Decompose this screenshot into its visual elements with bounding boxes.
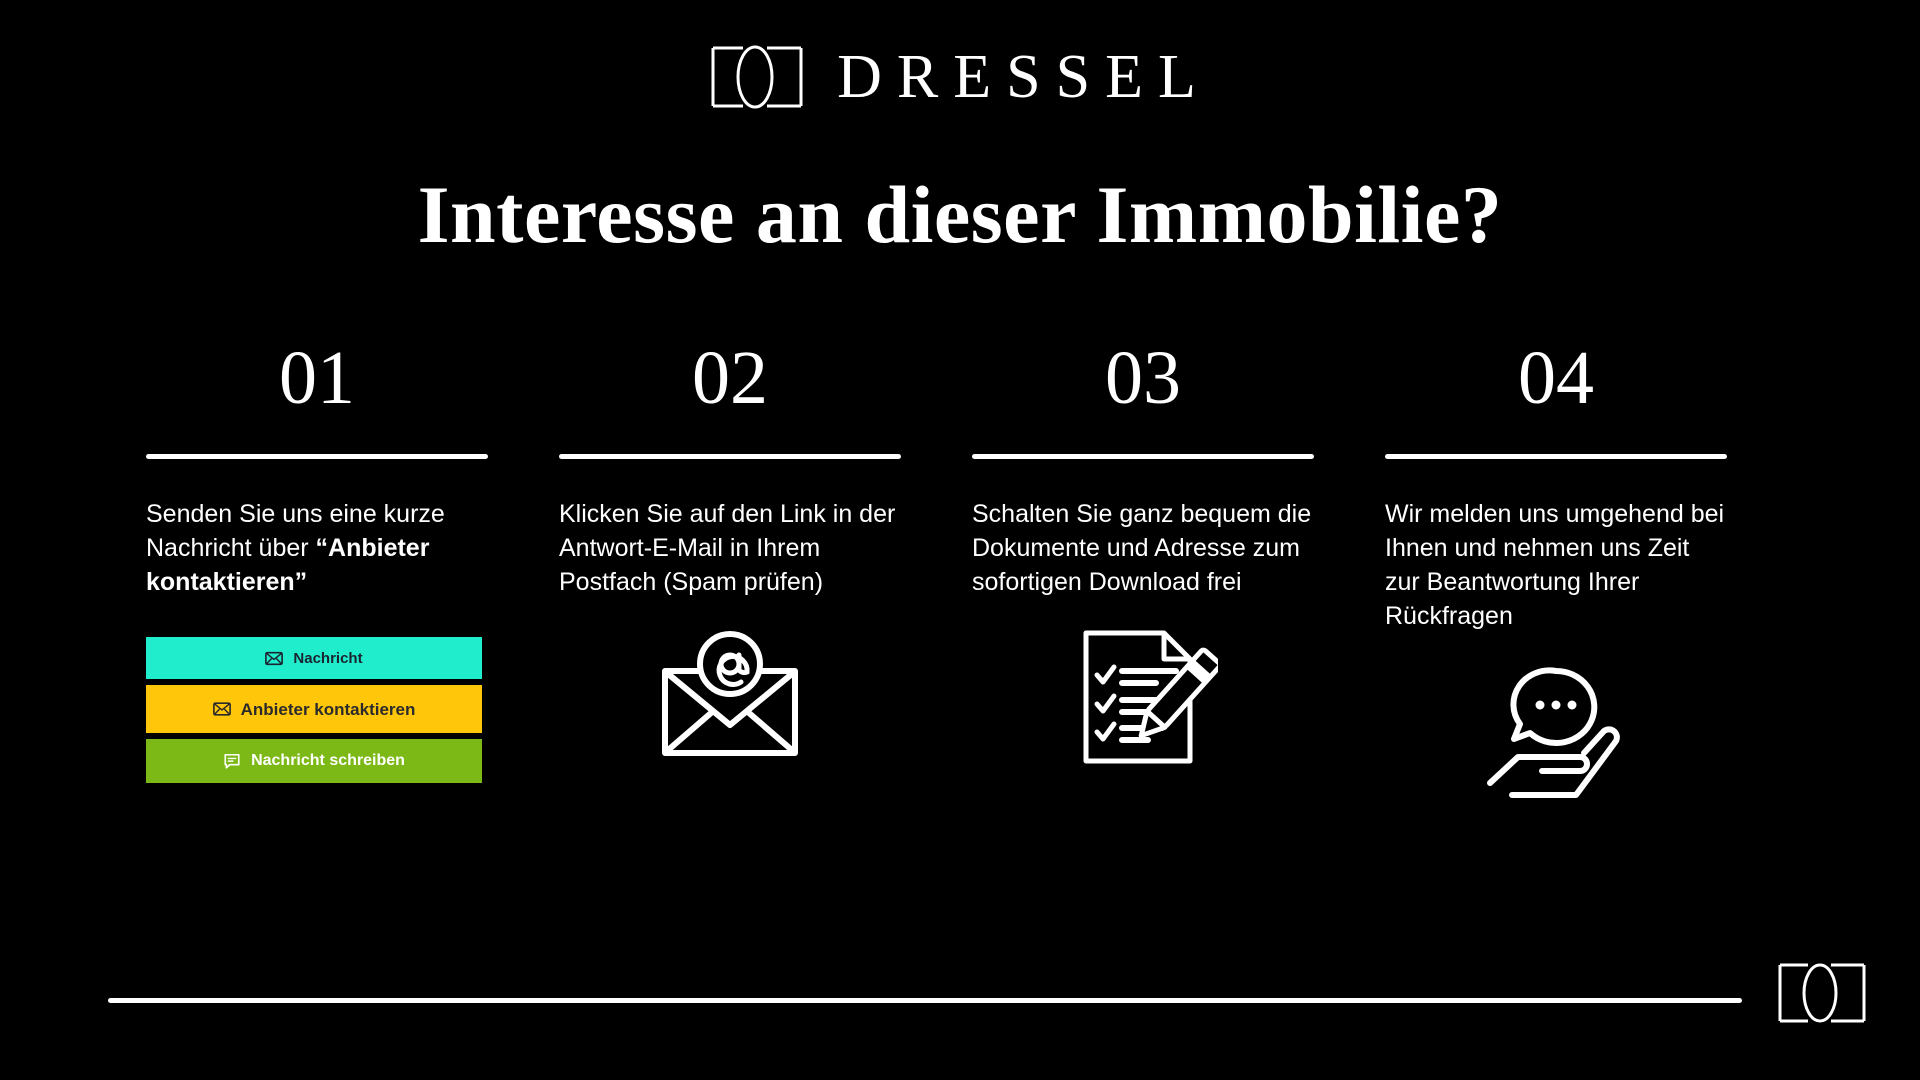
footer-divider	[108, 998, 1742, 1003]
step-number: 03	[972, 340, 1314, 426]
chat-bubble-on-hand-icon	[1476, 661, 1636, 806]
document-checklist-pen-icon	[1068, 627, 1218, 772]
dressel-monogram-icon	[709, 38, 805, 116]
nachricht-button-label: Nachricht	[293, 651, 362, 666]
step-card-04: 04 Wir melden uns umgehend bei Ihnen und…	[1385, 340, 1727, 799]
step-figure	[559, 633, 901, 765]
step-number: 04	[1385, 340, 1727, 426]
step-number: 02	[559, 340, 901, 426]
step-description: Schalten Sie ganz bequem die Dokumente u…	[972, 497, 1314, 599]
anbieter-kontaktieren-button[interactable]: Anbieter kontaktieren	[146, 685, 482, 733]
step-divider	[146, 454, 488, 459]
steps-grid: 01 Senden Sie uns eine kurze Nachricht ü…	[146, 340, 1806, 799]
step-description: Wir melden uns umgehend bei Ihnen und ne…	[1385, 497, 1727, 633]
anbieter-kontaktieren-button-label: Anbieter kontaktieren	[241, 701, 416, 718]
step-figure	[972, 633, 1314, 765]
step-figure	[1385, 667, 1727, 799]
step-card-01: 01 Senden Sie uns eine kurze Nachricht ü…	[146, 340, 488, 799]
email-at-icon	[655, 631, 805, 768]
step-description: Klicken Sie auf den Link in der Antwort-…	[559, 497, 901, 599]
step-card-02: 02 Klicken Sie auf den Link in der Antwo…	[559, 340, 901, 799]
dressel-monogram-icon	[1776, 956, 1868, 1030]
chat-bubble-lines-icon	[223, 752, 241, 770]
envelope-icon	[213, 700, 231, 718]
nachricht-button[interactable]: Nachricht	[146, 637, 482, 679]
brand-wordmark: DRESSEL	[831, 46, 1211, 108]
nachricht-schreiben-button[interactable]: Nachricht schreiben	[146, 739, 482, 783]
step-divider	[1385, 454, 1727, 459]
contact-buttons-figure: Nachricht Anbieter kontaktieren	[146, 637, 482, 783]
page-title: Interesse an dieser Immobilie?	[0, 172, 1920, 258]
step-divider	[972, 454, 1314, 459]
step-description: Senden Sie uns eine kurze Nachricht über…	[146, 497, 488, 599]
nachricht-schreiben-button-label: Nachricht schreiben	[251, 753, 405, 769]
step-divider	[559, 454, 901, 459]
step-number: 01	[146, 340, 488, 426]
brand-header: DRESSEL	[0, 38, 1920, 116]
footer	[0, 930, 1920, 1080]
step-card-03: 03 Schalten Sie ganz bequem die Dokument…	[972, 340, 1314, 799]
envelope-icon	[265, 649, 283, 667]
